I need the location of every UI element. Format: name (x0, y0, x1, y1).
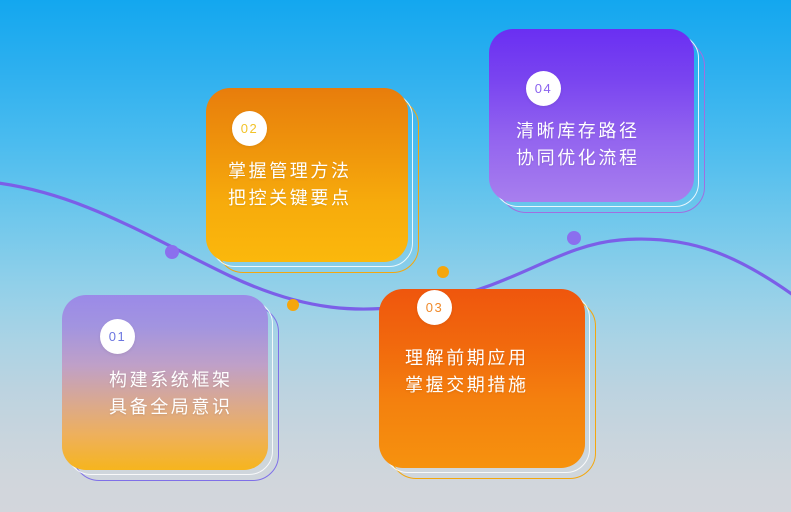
card-04-number-badge: 04 (526, 71, 561, 106)
card-03-text: 理解前期应用 掌握交期措施 (405, 345, 529, 399)
card-01-number-badge: 01 (100, 319, 135, 354)
card-04-text: 清晰库存路径 协同优化流程 (516, 118, 640, 172)
card-04-line2: 协同优化流程 (516, 145, 640, 172)
card-03[interactable]: 03 理解前期应用 掌握交期措施 (379, 289, 585, 468)
infographic-canvas: 01 构建系统框架 具备全局意识 02 掌握管理方法 把控关键要点 03 理解前… (0, 0, 791, 512)
dot-orange-right (437, 266, 449, 278)
card-02-line1: 掌握管理方法 (228, 158, 352, 185)
dot-orange-mid (287, 299, 299, 311)
card-01[interactable]: 01 构建系统框架 具备全局意识 (62, 295, 268, 470)
card-02-number-badge: 02 (232, 111, 267, 146)
card-01-line2: 具备全局意识 (109, 394, 233, 421)
card-02-text: 掌握管理方法 把控关键要点 (228, 158, 352, 212)
card-01-line1: 构建系统框架 (109, 367, 233, 394)
card-03-number-badge: 03 (417, 290, 452, 325)
dot-purple-left (165, 245, 179, 259)
card-04[interactable]: 04 清晰库存路径 协同优化流程 (489, 29, 694, 202)
card-02-line2: 把控关键要点 (228, 185, 352, 212)
card-04-line1: 清晰库存路径 (516, 118, 640, 145)
card-01-text: 构建系统框架 具备全局意识 (109, 367, 233, 421)
card-03-line1: 理解前期应用 (405, 345, 529, 372)
dot-purple-right (567, 231, 581, 245)
card-03-line2: 掌握交期措施 (405, 372, 529, 399)
card-02[interactable]: 02 掌握管理方法 把控关键要点 (206, 88, 408, 262)
card-04-body (489, 29, 694, 202)
